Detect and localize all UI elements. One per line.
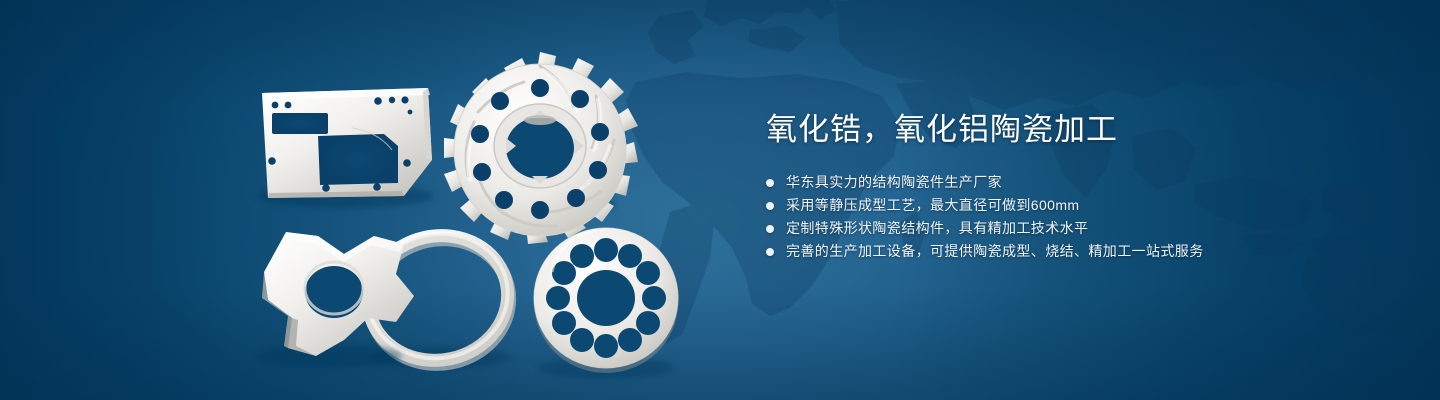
hero-banner: 氧化锆，氧化铝陶瓷加工 华东具实力的结构陶瓷件生产厂家 采用等静压成型工艺，最大… bbox=[0, 0, 1440, 400]
list-item: 完善的生产加工设备，可提供陶瓷成型、烧结、精加工一站式服务 bbox=[766, 240, 1366, 263]
feature-text: 华东具实力的结构陶瓷件生产厂家 bbox=[786, 171, 1002, 194]
feature-text: 完善的生产加工设备，可提供陶瓷成型、烧结、精加工一站式服务 bbox=[786, 240, 1204, 263]
list-item: 采用等静压成型工艺，最大直径可做到600mm bbox=[766, 194, 1366, 217]
feature-text: 采用等静压成型工艺，最大直径可做到600mm bbox=[786, 194, 1079, 217]
list-item: 华东具实力的结构陶瓷件生产厂家 bbox=[766, 171, 1366, 194]
ceramic-perforated-disc bbox=[534, 228, 678, 379]
bullet-dot-icon bbox=[766, 248, 774, 256]
bullet-dot-icon bbox=[766, 225, 774, 233]
ceramic-impeller-disc bbox=[444, 52, 638, 244]
ceramic-products-imagery bbox=[0, 0, 740, 400]
bullet-dot-icon bbox=[766, 202, 774, 210]
bullet-dot-icon bbox=[766, 179, 774, 187]
feature-text: 定制特殊形状陶瓷结构件，具有精加工技术水平 bbox=[786, 217, 1088, 240]
page-title: 氧化锆，氧化铝陶瓷加工 bbox=[766, 108, 1366, 152]
feature-list: 华东具实力的结构陶瓷件生产厂家 采用等静压成型工艺，最大直径可做到600mm 定… bbox=[766, 171, 1366, 263]
ceramic-plate-with-cutouts bbox=[257, 88, 433, 208]
banner-copy-block: 氧化锆，氧化铝陶瓷加工 华东具实力的结构陶瓷件生产厂家 采用等静压成型工艺，最大… bbox=[766, 108, 1366, 263]
list-item: 定制特殊形状陶瓷结构件，具有精加工技术水平 bbox=[766, 217, 1366, 240]
